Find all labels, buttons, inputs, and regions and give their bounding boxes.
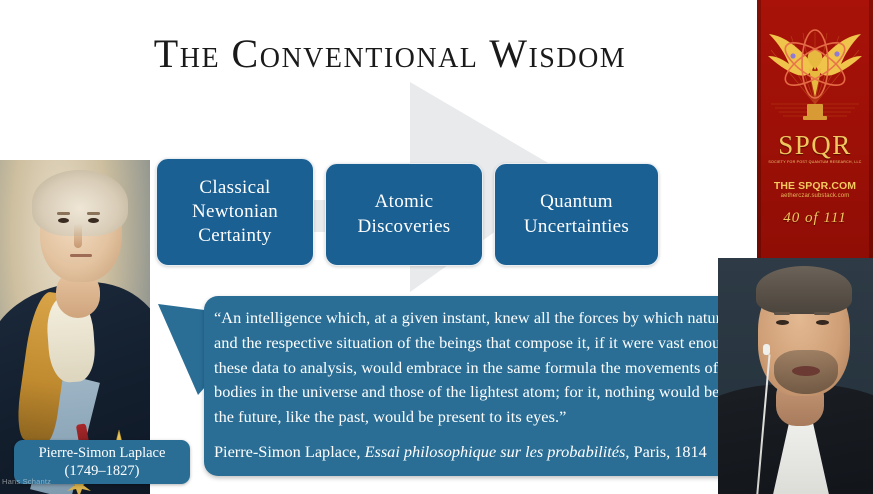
stage-box-label: Classical Newtonian Certainty <box>192 176 278 249</box>
quote-author: Pierre-Simon Laplace, <box>214 442 360 461</box>
portrait-eye-right <box>88 218 99 223</box>
webcam-eyebrow-right <box>814 312 830 315</box>
page-title: The Conventional Wisdom <box>60 30 720 77</box>
spqr-eagle-atom-logo-icon <box>765 8 865 136</box>
watermark-text: Hans Schantz <box>2 477 51 486</box>
portrait-dates: (1749–1827) <box>65 462 140 480</box>
portrait-eyebrow-right <box>87 212 100 215</box>
webcam-eye-right <box>816 320 829 325</box>
spqr-banner: SPQR SOCIETY FOR POST QUANTUM RESEARCH, … <box>757 0 873 259</box>
portrait-eyebrow-left <box>57 212 70 215</box>
webcam-mouth <box>792 366 820 376</box>
portrait-name: Pierre-Simon Laplace <box>39 444 166 462</box>
webcam-eyebrow-left <box>774 312 790 315</box>
slide-counter: 40 of 111 <box>757 210 873 227</box>
portrait-nose <box>74 224 82 248</box>
portrait-eye-left <box>58 218 69 223</box>
spqr-website-link[interactable]: THE SPQR.COM <box>757 180 873 192</box>
spqr-wordmark: SPQR <box>757 130 873 161</box>
stage-box-label: Atomic Discoveries <box>358 190 451 239</box>
quote-work-title: Essai philosophique sur les probabilités <box>365 442 626 461</box>
portrait-mouth <box>70 254 92 257</box>
stage-box-classical-newtonian-certainty[interactable]: Classical Newtonian Certainty <box>156 158 314 266</box>
spqr-tagline: SOCIETY FOR POST QUANTUM RESEARCH, LLC <box>757 160 873 164</box>
stage-box-atomic-discoveries[interactable]: Atomic Discoveries <box>325 163 483 266</box>
webcam-eye-left <box>776 320 789 325</box>
presenter-webcam-overlay[interactable] <box>718 258 873 494</box>
spqr-substack-link[interactable]: aetherczar.substack.com <box>757 193 873 199</box>
stage-box-label: Quantum Uncertainties <box>524 190 629 239</box>
quote-publication: , Paris, 1814 <box>625 442 706 461</box>
stage-box-quantum-uncertainties[interactable]: Quantum Uncertainties <box>494 163 659 266</box>
presentation-screen: The Conventional Wisdom Classical Newton… <box>0 0 873 494</box>
webcam-hair <box>756 266 852 314</box>
